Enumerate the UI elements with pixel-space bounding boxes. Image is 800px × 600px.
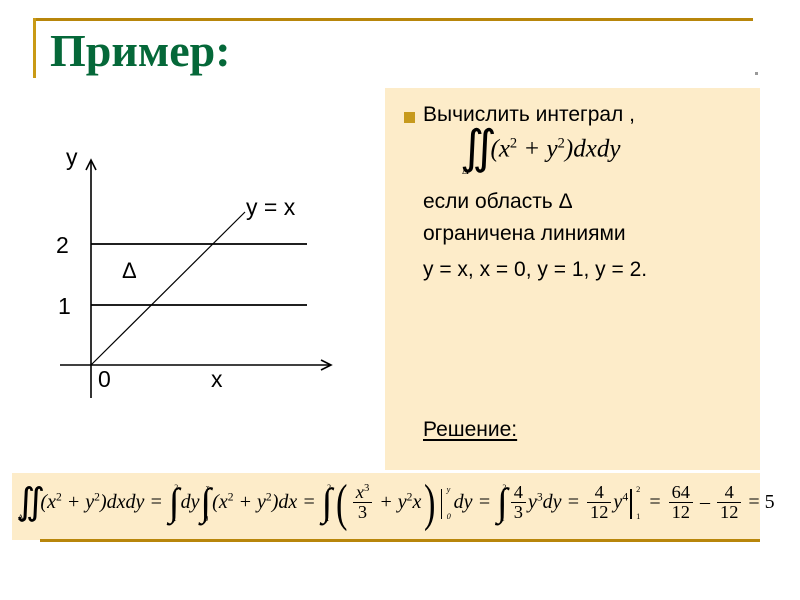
fraction-4-over-3: 43 [511, 483, 526, 522]
paren-close: ) [565, 136, 573, 163]
integral-4-upper-limit: 2 [502, 484, 506, 492]
tick-label-1: 1 [58, 293, 71, 320]
integral-4-lower-limit: 1 [501, 515, 505, 523]
inner-y: y [257, 491, 266, 513]
term-y-2: y [398, 491, 407, 513]
y-axis-label: y [66, 144, 78, 171]
integral-3: ∫ 2 1 [322, 489, 333, 519]
task-integral-expression: ∬ Δ (x2 + y2)dxdy [460, 132, 620, 170]
final-result: 5 [765, 491, 775, 513]
line-y-equals-x [91, 212, 245, 365]
solution-heading: Решение: [423, 418, 517, 442]
integral-1-upper-limit: 2 [174, 484, 178, 492]
fraction-denominator: 3 [353, 502, 373, 522]
eval-bar-rule-2 [630, 489, 631, 519]
differential-dy-2: dy [454, 491, 473, 513]
minus-operator: – [695, 491, 715, 513]
lhs-differential: dxdy [107, 491, 145, 513]
equals-5: = [643, 491, 667, 513]
term-y-exponent: 2 [558, 135, 565, 151]
frame-top-rule [33, 18, 753, 21]
integral-4: ∫ 2 1 [497, 489, 508, 519]
integral-1: ∫ 2 1 [169, 489, 180, 519]
frame-left-rule [33, 18, 36, 78]
frac3-num: 4 [587, 483, 611, 502]
region-label-delta: Δ [122, 258, 137, 284]
eval-bar-rule-1 [441, 489, 442, 519]
task-line-4: ограничена линиями [423, 222, 626, 246]
frac4-num: 64 [669, 483, 693, 502]
coordinate-graph: y 2 1 0 x Δ y = x [0, 130, 360, 410]
slide-canvas: Пример: y 2 1 0 x Δ y = x Вычислить инте… [0, 0, 800, 600]
eval-1-upper: y [447, 486, 451, 494]
equals-2: = [297, 491, 321, 513]
differential-dx-1: dx [278, 491, 297, 513]
inner-plus: + [234, 491, 258, 513]
tick-label-2: 2 [56, 232, 69, 259]
term-x: x [499, 136, 510, 163]
big-paren-close: ) [424, 488, 435, 520]
paren-open: ( [490, 136, 498, 163]
task-line-1: Вычислить интеграл , [423, 103, 635, 127]
term-x-2: x [412, 491, 421, 513]
differential-dxdy: dxdy [573, 136, 620, 163]
frac5-num: 4 [717, 483, 741, 502]
lhs-paren-close: ) [100, 491, 107, 513]
equals-6: = [743, 491, 764, 513]
solution-formula: ∬ Δ (x2 + y2)dxdy = ∫ 2 1 dy ∫ x 0 (x2 +… [16, 484, 775, 523]
integral-1-lower-limit: 1 [173, 515, 177, 523]
integral-3-lower-limit: 1 [325, 515, 329, 523]
lhs-x: x [47, 491, 56, 513]
equals-3: = [473, 491, 497, 513]
frame-bottom-rule [40, 539, 760, 542]
differential-dy-1: dy [181, 491, 200, 513]
plus-2: + [374, 491, 398, 513]
eval-2-upper: 2 [636, 486, 640, 494]
fraction-4-over-12: 412 [587, 483, 611, 522]
integral-2-upper-limit: x [206, 484, 210, 492]
term-y: y [547, 136, 558, 163]
equals-1: = [144, 491, 168, 513]
fraction-64-over-12: 6412 [669, 483, 693, 522]
x-axis-label: x [211, 366, 223, 393]
task-line-5: y = x, x = 0, y = 1, y = 2. [423, 258, 647, 282]
graph-svg [0, 130, 360, 410]
page-title: Пример: [50, 24, 231, 77]
curve-label-y-equals-x: y = x [246, 194, 295, 221]
evaluation-bar-1: y0 [441, 489, 454, 519]
fraction-x-cubed-over-3: x33 [353, 483, 373, 522]
big-paren-open: ( [336, 488, 347, 520]
plus-operator: + [517, 136, 546, 163]
y-cubed-base: y [528, 491, 537, 513]
lhs-y: y [85, 491, 94, 513]
integral-2: ∫ x 0 [200, 489, 211, 519]
differential-dy-3: dy [543, 491, 562, 513]
y-fourth-exp: 4 [622, 491, 628, 504]
frac1-num-base: x [356, 482, 364, 502]
frac1-num-exp: 3 [364, 482, 369, 494]
frac2-den: 3 [511, 502, 526, 522]
origin-label: 0 [98, 366, 111, 393]
task-line-3: если область Δ [423, 190, 573, 214]
lhs-plus: + [62, 491, 86, 513]
eval-1-lower: 0 [447, 513, 451, 521]
inner-x: x [219, 491, 228, 513]
equals-4: = [562, 491, 586, 513]
square-bullet-icon [404, 112, 415, 123]
double-integral-icon-solution: ∬ Δ [16, 490, 40, 518]
integral-2-lower-limit: 0 [204, 515, 208, 523]
fraction-numerator: x3 [353, 483, 373, 502]
eval-2-lower: 1 [636, 513, 640, 521]
frac5-den: 12 [717, 502, 741, 522]
frac3-den: 12 [587, 502, 611, 522]
integral-region-limit: Δ [462, 166, 469, 177]
integral-region-limit-solution: Δ [18, 514, 23, 522]
corner-dot-marker [755, 72, 758, 75]
double-integral-icon: ∬ Δ [460, 132, 490, 170]
y-fourth-base: y [613, 491, 622, 513]
fraction-4-over-12-second: 412 [717, 483, 741, 522]
frac2-num: 4 [511, 483, 526, 502]
integral-3-upper-limit: 2 [327, 484, 331, 492]
frac4-den: 12 [669, 502, 693, 522]
evaluation-bar-2: 21 [630, 489, 643, 519]
inner-paren-open: ( [212, 491, 219, 513]
